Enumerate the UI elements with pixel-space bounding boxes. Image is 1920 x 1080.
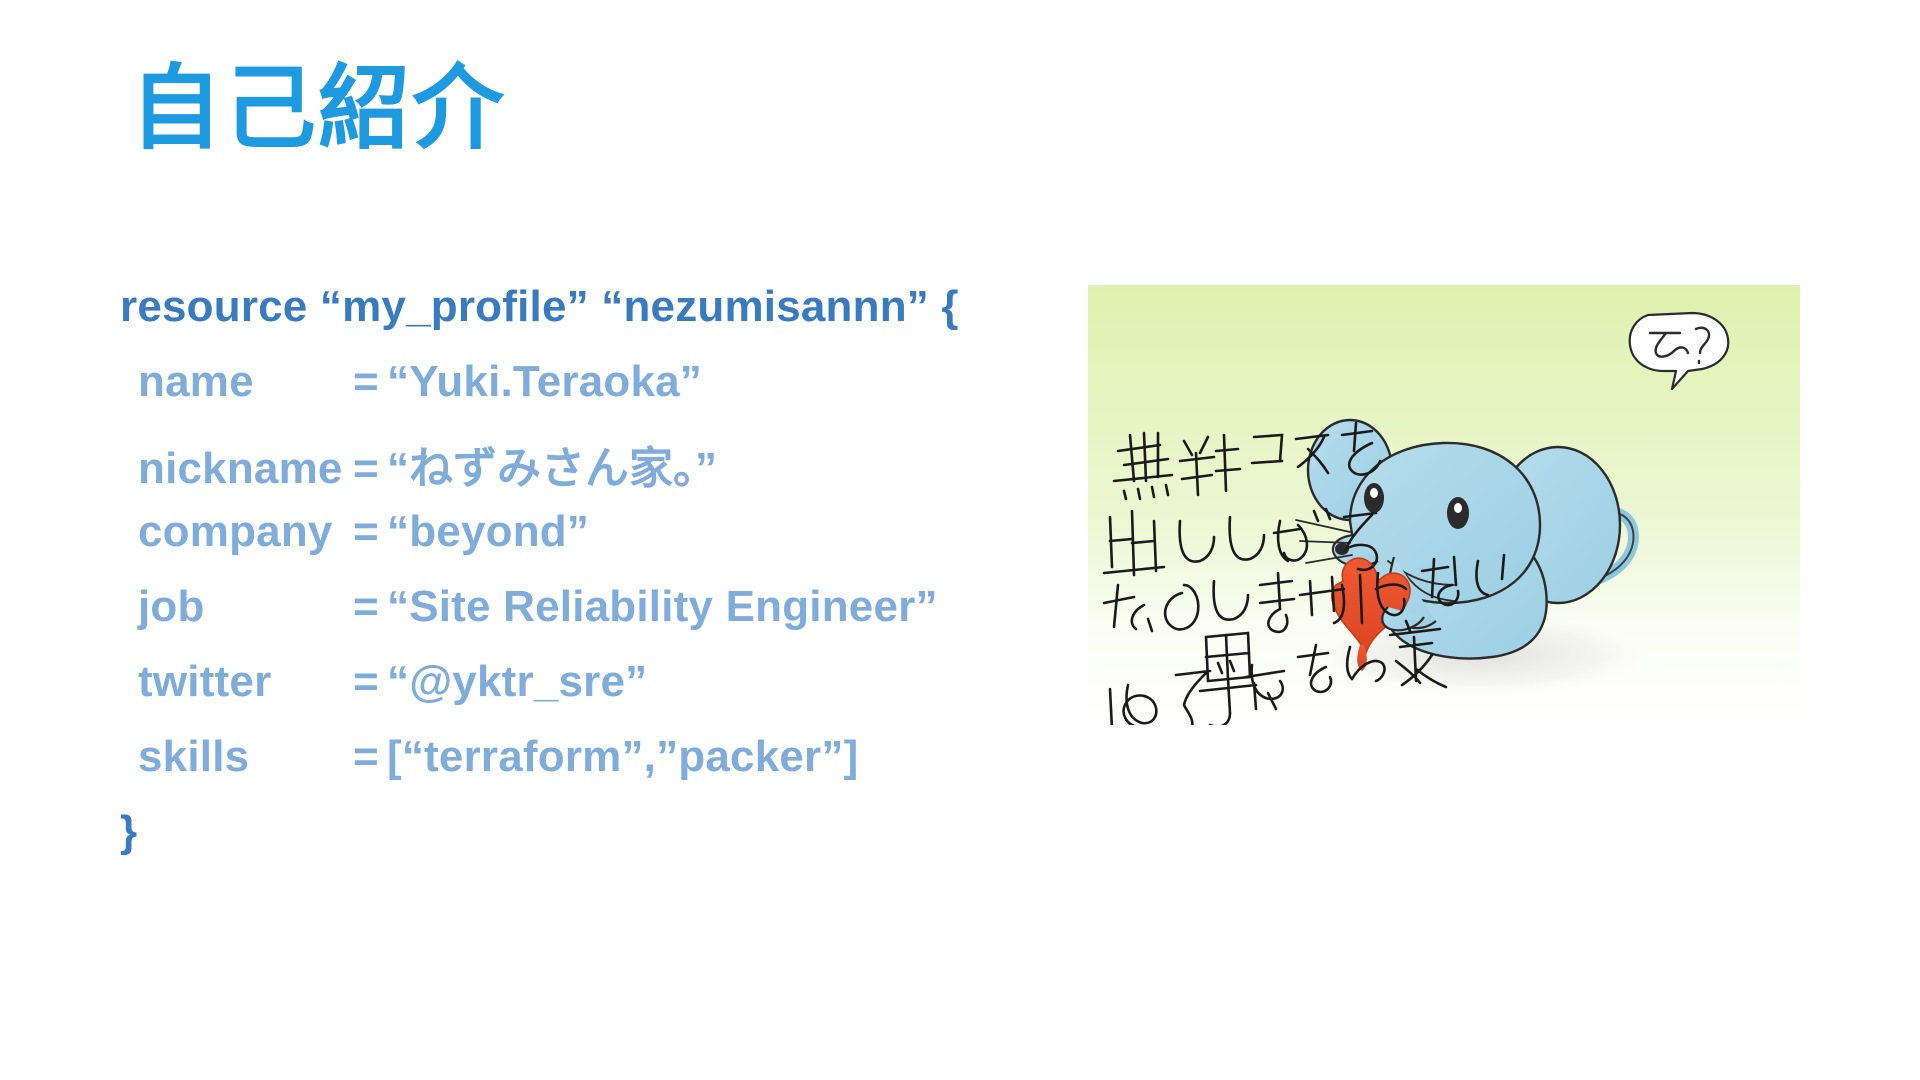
- mouse-eye-right-highlight: [1454, 503, 1462, 513]
- code-line-twitter: twitter = “@yktr_sre”: [120, 657, 1020, 732]
- code-key-nickname: nickname: [138, 444, 353, 494]
- code-key-name: name: [138, 357, 353, 407]
- code-value-twitter: “@yktr_sre”: [387, 657, 647, 707]
- code-value-skills: [“terraform”,”packer”]: [387, 732, 858, 782]
- code-line-company: company = “beyond”: [120, 507, 1020, 582]
- code-eq-skills: =: [353, 732, 387, 782]
- code-value-name: “Yuki.Teraoka”: [387, 357, 702, 407]
- code-line-resource-open: resource “my_profile” “nezumisannn” {: [120, 282, 1020, 357]
- code-line-skills: skills = [“terraform”,”packer”]: [120, 732, 1020, 807]
- code-line-name: name = “Yuki.Teraoka”: [120, 357, 1020, 432]
- code-eq-company: =: [353, 507, 387, 557]
- profile-code-block: resource “my_profile” “nezumisannn” { na…: [120, 282, 1020, 882]
- code-value-nickname: “ねずみさん家。”: [387, 432, 717, 496]
- mouse-eye-left-highlight: [1370, 488, 1378, 498]
- code-value-job: “Site Reliability Engineer”: [387, 582, 938, 632]
- code-line-nickname: nickname = “ねずみさん家。”: [120, 432, 1020, 507]
- code-value-company: “beyond”: [387, 507, 589, 557]
- code-line-resource-close: }: [120, 807, 1020, 882]
- code-line-job: job = “Site Reliability Engineer”: [120, 582, 1020, 657]
- code-eq-twitter: =: [353, 657, 387, 707]
- code-key-skills: skills: [138, 732, 353, 782]
- page-title: 自己紹介: [130, 58, 506, 161]
- code-eq-nickname: =: [353, 444, 387, 494]
- slide-root: 自己紹介 resource “my_profile” “nezumisannn”…: [0, 0, 1920, 1080]
- code-key-company: company: [138, 507, 353, 557]
- code-key-job: job: [138, 582, 353, 632]
- mouse-illustration: [1088, 285, 1800, 725]
- code-eq-job: =: [353, 582, 387, 632]
- code-key-twitter: twitter: [138, 657, 353, 707]
- code-eq-name: =: [353, 357, 387, 407]
